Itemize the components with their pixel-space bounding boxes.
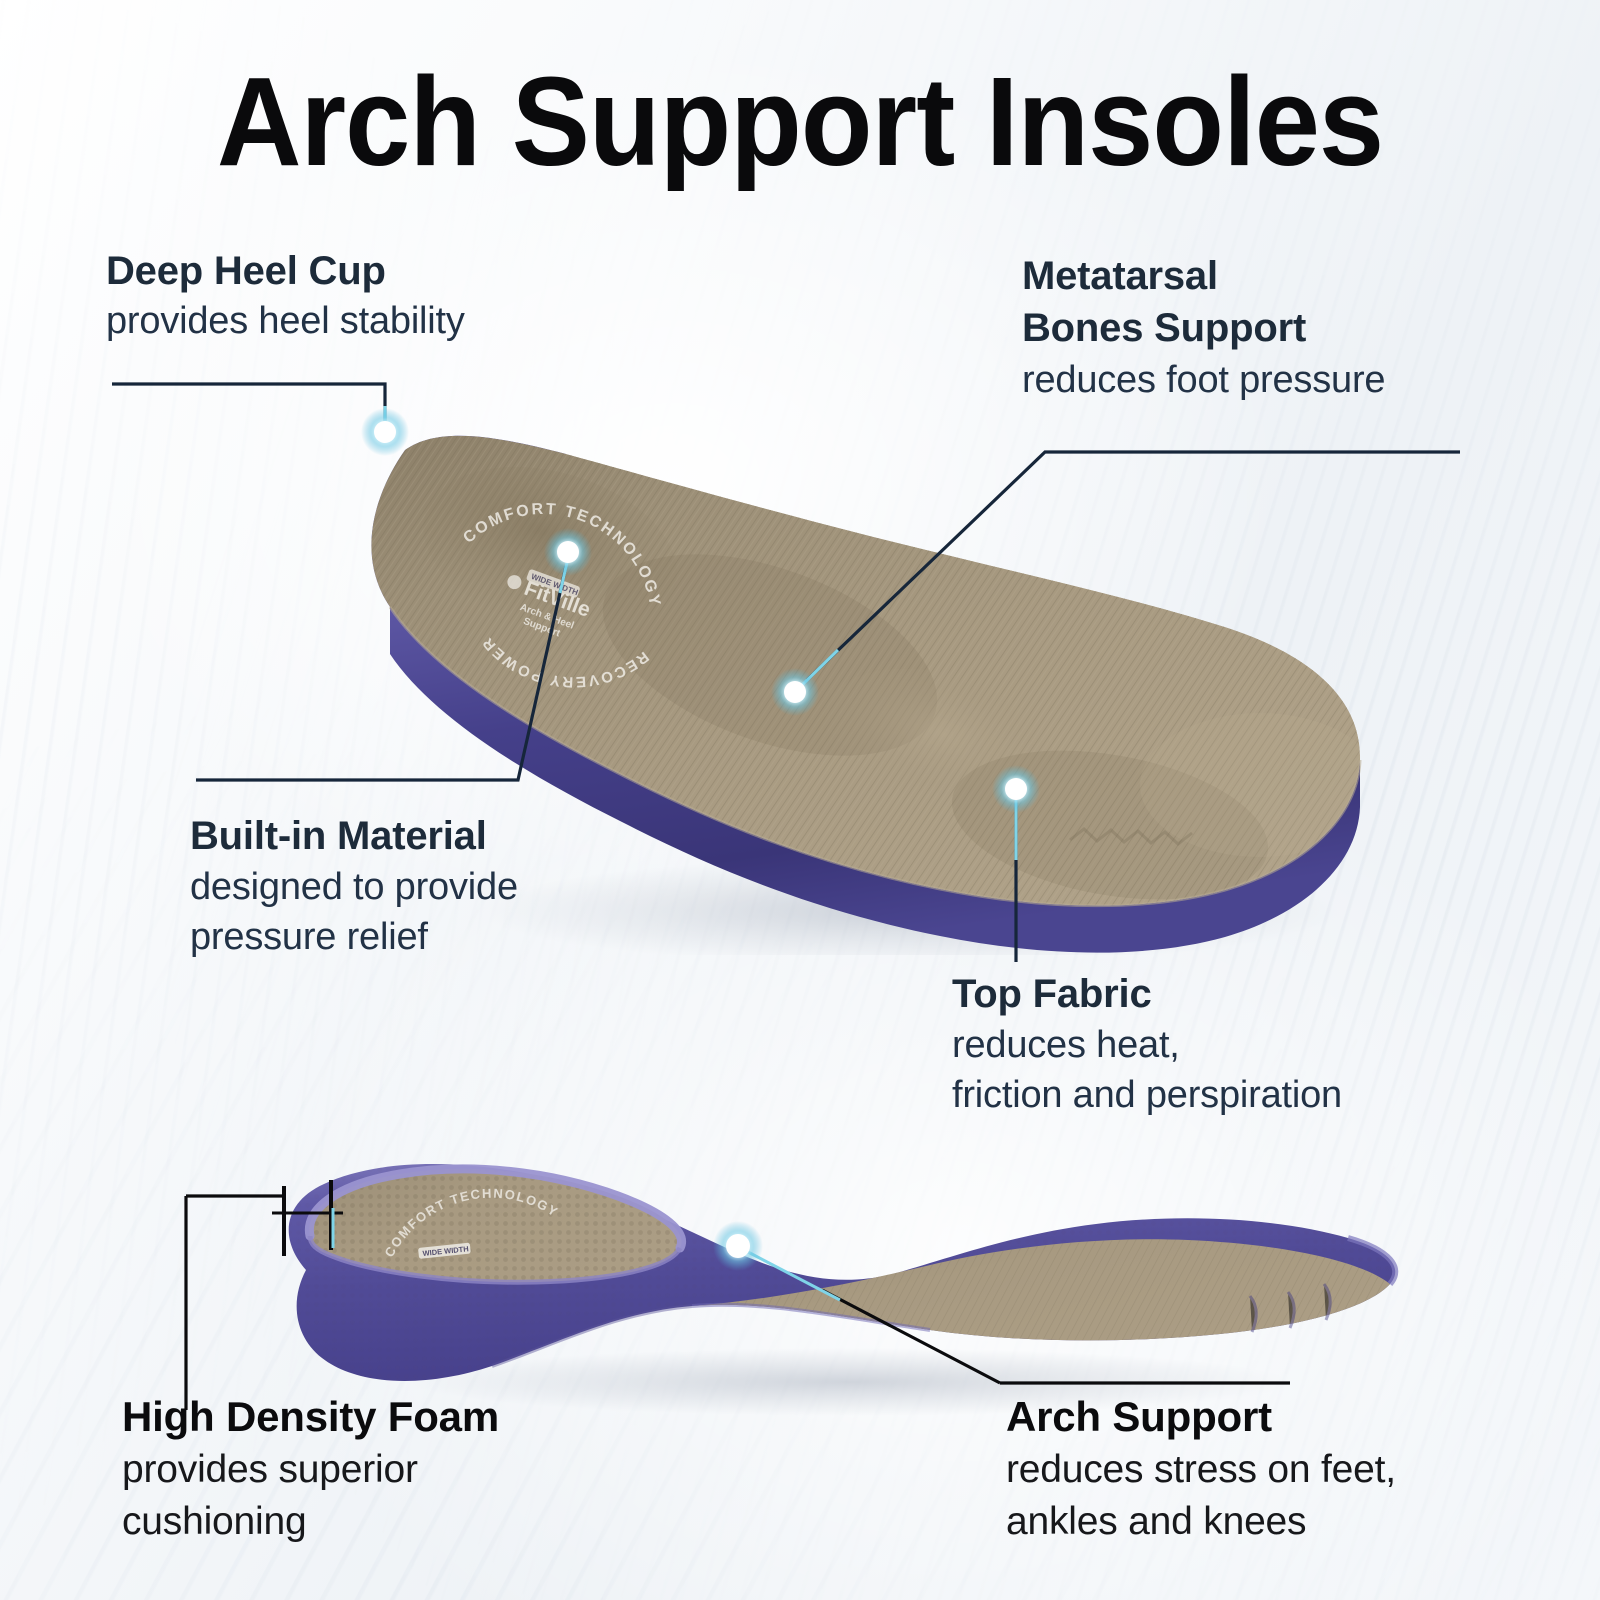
callout-body-line: provides heel stability — [106, 296, 465, 346]
callout-heading: Built-in Material — [190, 810, 518, 862]
callout-high-density-foam: High Density Foam provides superior cush… — [122, 1390, 499, 1548]
callout-body-line-2: cushioning — [122, 1496, 499, 1548]
callout-arch-support: Arch Support reduces stress on feet, ank… — [1006, 1390, 1396, 1548]
page-title: Arch Support Insoles — [56, 58, 1544, 187]
callout-body-line: provides superior — [122, 1444, 499, 1496]
callout-body-line-2: pressure relief — [190, 912, 518, 962]
infographic-canvas: Arch Support Insoles — [0, 0, 1600, 1600]
callout-heading: Deep Heel Cup — [106, 246, 465, 296]
callout-heading: High Density Foam — [122, 1390, 499, 1444]
callout-body-line: reduces stress on feet, — [1006, 1444, 1396, 1496]
insole-side-heelcup: COMFORT TECHNOLOGY WIDE WIDTH — [309, 1169, 681, 1282]
callout-built-in-material: Built-in Material designed to provide pr… — [190, 810, 518, 962]
callout-body-line: designed to provide — [190, 862, 518, 912]
callout-heading-2: Bones Support — [1022, 302, 1385, 354]
callout-body-line-2: ankles and knees — [1006, 1496, 1396, 1548]
callout-body-line: reduces heat, — [952, 1020, 1342, 1070]
callout-heading: Metatarsal — [1022, 250, 1385, 302]
callout-top-fabric: Top Fabric reduces heat, friction and pe… — [952, 968, 1342, 1120]
insole-side-view-image: COMFORT TECHNOLOGY WIDE WIDTH — [240, 1120, 1420, 1420]
callout-body-line: reduces foot pressure — [1022, 354, 1385, 406]
callout-body-line-2: friction and perspiration — [952, 1070, 1342, 1120]
callout-deep-heel-cup: Deep Heel Cup provides heel stability — [106, 246, 465, 346]
callout-metatarsal-bones-support: Metatarsal Bones Support reduces foot pr… — [1022, 250, 1385, 406]
callout-heading: Arch Support — [1006, 1390, 1396, 1444]
callout-heading: Top Fabric — [952, 968, 1342, 1020]
